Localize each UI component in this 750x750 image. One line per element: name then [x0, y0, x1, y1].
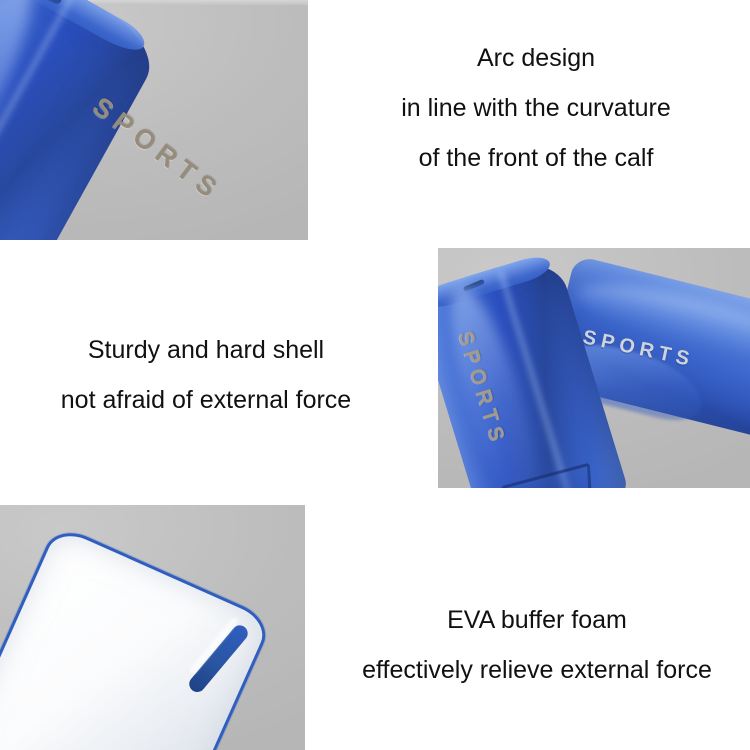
product-photo-pair: SPORTS SPORTS — [438, 248, 750, 488]
feature-line: not afraid of external force — [0, 375, 412, 425]
feature-line: Sturdy and hard shell — [0, 325, 412, 375]
feature-text-arc-design: Arc design in line with the curvature of… — [330, 33, 742, 183]
feature-line: effectively relieve external force — [328, 645, 746, 695]
product-feature-collage: SPORTS Arc design in line with the curva… — [0, 0, 750, 750]
product-photo-eva-foam — [0, 505, 305, 750]
product-photo-arc-design: SPORTS — [0, 0, 308, 240]
feature-text-hard-shell: Sturdy and hard shell not afraid of exte… — [0, 325, 412, 425]
feature-line: in line with the curvature — [330, 83, 742, 133]
feature-line: Arc design — [330, 33, 742, 83]
feature-line: of the front of the calf — [330, 133, 742, 183]
feature-line: EVA buffer foam — [328, 595, 746, 645]
feature-text-eva-foam: EVA buffer foam effectively relieve exte… — [328, 595, 746, 695]
